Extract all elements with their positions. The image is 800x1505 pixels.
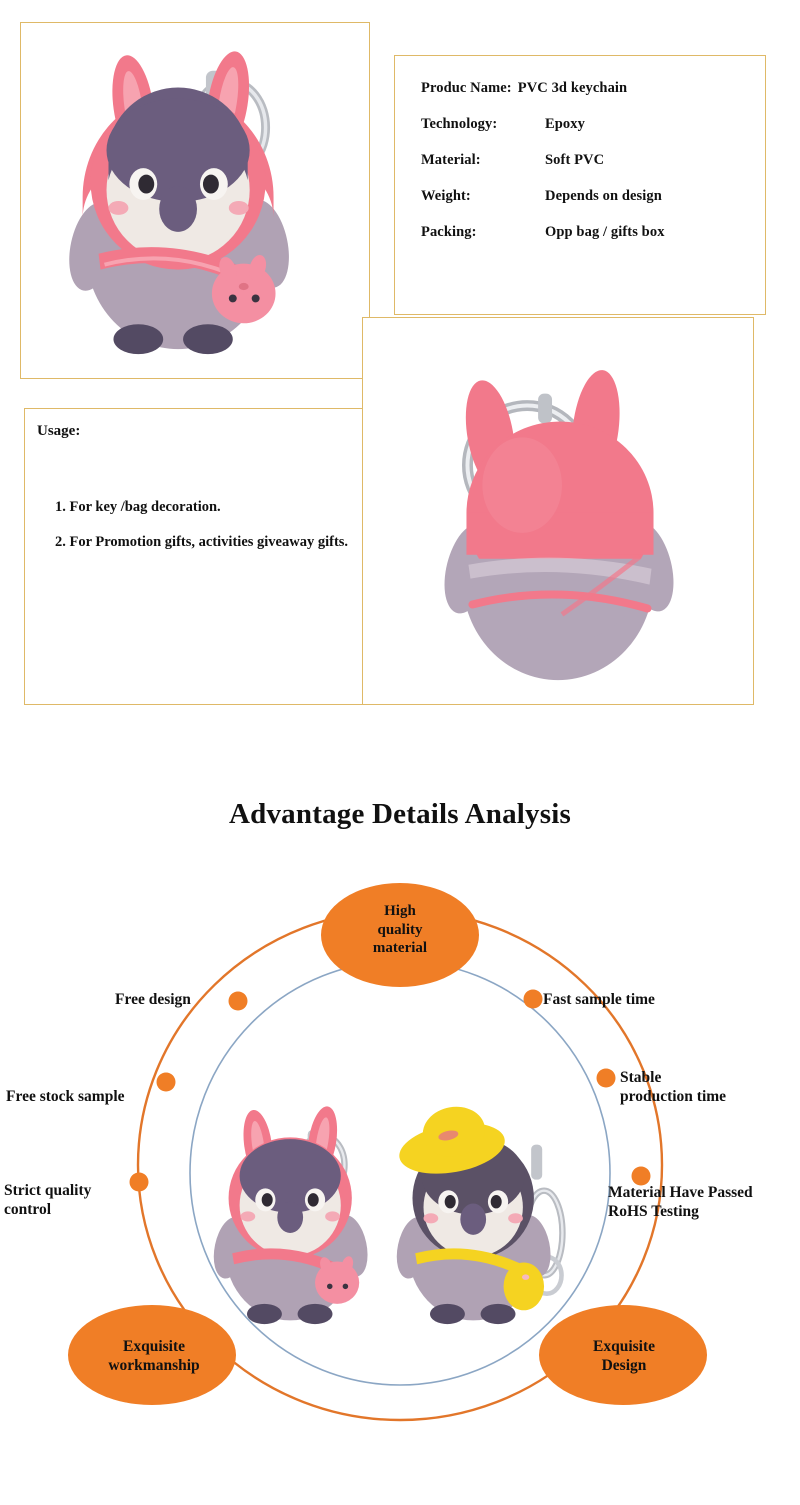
usage-content: Usage: 1. For key /bag decoration. 2. Fo… xyxy=(25,409,367,704)
label-fast-sample-time: Fast sample time xyxy=(543,991,655,1010)
spec-value-product-name: PVC 3d keychain xyxy=(518,80,627,97)
yellow-bag xyxy=(504,1262,544,1310)
usage-title: Usage: xyxy=(37,423,351,440)
spec-row-technology: Technology: Epoxy xyxy=(421,116,747,133)
penguin-foot-left xyxy=(113,324,163,354)
spec-label-technology: Technology: xyxy=(421,116,545,133)
dot-free-design xyxy=(229,992,248,1011)
product-photo-front xyxy=(21,23,369,378)
product-photo-frame-back xyxy=(362,317,754,705)
spec-row-packing: Packing: Opp bag / gifts box xyxy=(421,224,747,241)
label-exquisite-workmanship: Exquisite workmanship xyxy=(70,1308,238,1404)
usage-item-2: 2. For Promotion gifts, activities givea… xyxy=(37,533,351,552)
dot-strict-quality xyxy=(130,1173,149,1192)
spec-value-weight: Depends on design xyxy=(545,188,662,205)
specification-box: Produc Name: PVC 3d keychain Technology:… xyxy=(394,55,766,315)
penguin-beak xyxy=(159,186,197,232)
label-exquisite-design: Exquisite Design xyxy=(540,1308,708,1404)
spec-label-packing: Packing: xyxy=(421,224,545,241)
dot-fast-sample xyxy=(524,990,543,1009)
label-stable-production-time: Stable production time xyxy=(620,1069,726,1107)
spec-row-product-name: Produc Name: PVC 3d keychain xyxy=(421,80,747,97)
label-free-design: Free design xyxy=(115,991,191,1010)
spec-label-weight: Weight: xyxy=(421,188,545,205)
spec-row-weight: Weight: Depends on design xyxy=(421,188,747,205)
product-listing-page: Produc Name: PVC 3d keychain Technology:… xyxy=(0,0,800,1505)
center-photo-pink-keychain xyxy=(209,1104,373,1324)
dot-free-stock xyxy=(157,1073,176,1092)
penguin-foot-right xyxy=(183,324,233,354)
product-photo-frame-front xyxy=(20,22,370,379)
spec-value-technology: Epoxy xyxy=(545,116,585,133)
usage-box: Usage: 1. For key /bag decoration. 2. Fo… xyxy=(24,408,368,705)
dot-stable-production xyxy=(597,1069,616,1088)
spec-value-material: Soft PVC xyxy=(545,152,604,169)
specification-table: Produc Name: PVC 3d keychain Technology:… xyxy=(395,56,765,314)
label-rohs-testing: Material Have Passed RoHS Testing xyxy=(608,1184,753,1222)
center-photo-yellow-keychain xyxy=(392,1102,563,1324)
label-free-stock-sample: Free stock sample xyxy=(6,1088,125,1107)
label-high-quality-material: High quality material xyxy=(340,888,460,972)
spec-label-product-name: Produc Name: xyxy=(421,80,512,97)
advantage-section-title: Advantage Details Analysis xyxy=(0,798,800,831)
spec-value-packing: Opp bag / gifts box xyxy=(545,224,665,241)
label-strict-quality-control: Strict quality control xyxy=(4,1182,91,1220)
usage-item-1: 1. For key /bag decoration. xyxy=(37,498,351,517)
spec-label-material: Material: xyxy=(421,152,545,169)
spec-row-material: Material: Soft PVC xyxy=(421,152,747,169)
dot-rohs xyxy=(632,1167,651,1186)
product-photo-back xyxy=(363,318,753,704)
